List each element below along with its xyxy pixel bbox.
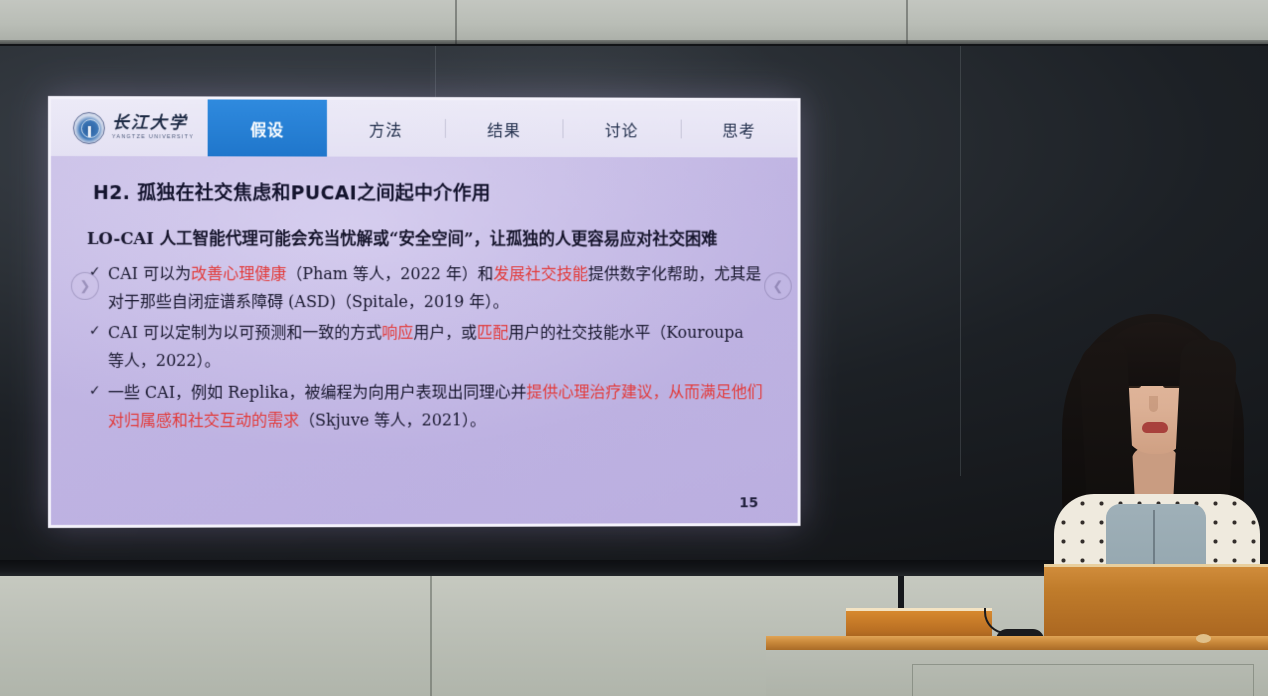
bullet-text: CAI 可以定制为以可预测和一致的方式响应用户，或匹配用户的社交技能水平（Kou… bbox=[108, 323, 744, 370]
plain-text: CAI 可以定制为以可预测和一致的方式 bbox=[108, 323, 382, 342]
university-name-cn: 长江大学 bbox=[112, 115, 194, 132]
bullet-item: ✓ CAI 可以定制为以可预测和一致的方式响应用户，或匹配用户的社交技能水平（K… bbox=[89, 319, 764, 375]
tab-reflection[interactable]: 思考 bbox=[680, 101, 797, 158]
desk-cabinet-panel bbox=[912, 664, 1254, 696]
slide-section-tabs: 假设 方法 结果 讨论 思考 bbox=[208, 99, 798, 157]
lecture-hall-scene: 长江大学 YANGTZE UNIVERSITY 假设 方法 结果 讨论 思考 H… bbox=[0, 0, 1268, 696]
plain-text: 用户，或 bbox=[413, 323, 476, 342]
slide-canvas: 长江大学 YANGTZE UNIVERSITY 假设 方法 结果 讨论 思考 H… bbox=[51, 99, 798, 525]
plain-text: 一些 CAI，例如 Replika，被编程为向用户表现出同理心并 bbox=[108, 383, 527, 402]
tab-method[interactable]: 方法 bbox=[327, 100, 445, 157]
projected-slide: 长江大学 YANGTZE UNIVERSITY 假设 方法 结果 讨论 思考 H… bbox=[48, 96, 801, 528]
desk-cabinet-front bbox=[766, 650, 1268, 696]
plain-text: CAI 可以为 bbox=[108, 264, 191, 283]
tab-discussion[interactable]: 讨论 bbox=[563, 100, 681, 157]
university-name-en: YANGTZE UNIVERSITY bbox=[112, 135, 194, 141]
checkmark-icon: ✓ bbox=[89, 379, 101, 403]
highlighted-text: 改善心理健康 bbox=[191, 264, 287, 283]
bullet-item: ✓ CAI 可以为改善心理健康（Pham 等人，2022 年）和发展社交技能提供… bbox=[89, 260, 764, 316]
presenter-person bbox=[1044, 308, 1268, 608]
slide-body: H2. 孤独在社交焦虑和PUCAI之间起中介作用 LO-CAI 人工智能代理可能… bbox=[51, 156, 798, 435]
university-seal-icon bbox=[73, 112, 105, 144]
tab-hypothesis[interactable]: 假设 bbox=[208, 99, 327, 156]
desk-handle bbox=[1196, 634, 1211, 643]
slide-title: H2. 孤独在社交焦虑和PUCAI之间起中介作用 bbox=[93, 178, 768, 206]
microphone-stem bbox=[898, 576, 904, 612]
checkmark-icon: ✓ bbox=[89, 319, 101, 343]
university-logo: 长江大学 YANGTZE UNIVERSITY bbox=[51, 99, 208, 156]
highlighted-text: 响应 bbox=[382, 323, 414, 342]
plain-text: （Pham 等人，2022 年）和 bbox=[286, 264, 493, 283]
upper-wall-panels bbox=[0, 0, 1268, 44]
bullet-text: 一些 CAI，例如 Replika，被编程为向用户表现出同理心并提供心理治疗建议… bbox=[108, 382, 763, 429]
plain-text: （Skjuve 等人，2021）。 bbox=[299, 410, 486, 429]
highlighted-text: 发展社交技能 bbox=[493, 264, 588, 283]
slide-page-number: 15 bbox=[739, 495, 758, 511]
slide-bullet-list: ✓ CAI 可以为改善心理健康（Pham 等人，2022 年）和发展社交技能提供… bbox=[79, 260, 768, 435]
chevron-left-icon[interactable]: ❮ bbox=[764, 272, 791, 300]
presenter-nose bbox=[1149, 396, 1158, 412]
desk-surface bbox=[766, 636, 1268, 650]
slide-header: 长江大学 YANGTZE UNIVERSITY 假设 方法 结果 讨论 思考 bbox=[51, 99, 798, 157]
podium-wooden-front bbox=[1044, 564, 1268, 641]
bullet-item: ✓ 一些 CAI，例如 Replika，被编程为向用户表现出同理心并提供心理治疗… bbox=[89, 378, 764, 434]
bullet-text: CAI 可以为改善心理健康（Pham 等人，2022 年）和发展社交技能提供数字… bbox=[108, 264, 761, 311]
tab-results[interactable]: 结果 bbox=[445, 100, 563, 157]
presenter-mouth bbox=[1142, 422, 1168, 433]
slide-lead-paragraph: LO-CAI 人工智能代理可能会充当忧解或“安全空间”，让孤独的人更容易应对社交… bbox=[87, 225, 762, 254]
highlighted-text: 匹配 bbox=[477, 323, 509, 342]
chevron-right-icon[interactable]: ❯ bbox=[71, 272, 99, 300]
